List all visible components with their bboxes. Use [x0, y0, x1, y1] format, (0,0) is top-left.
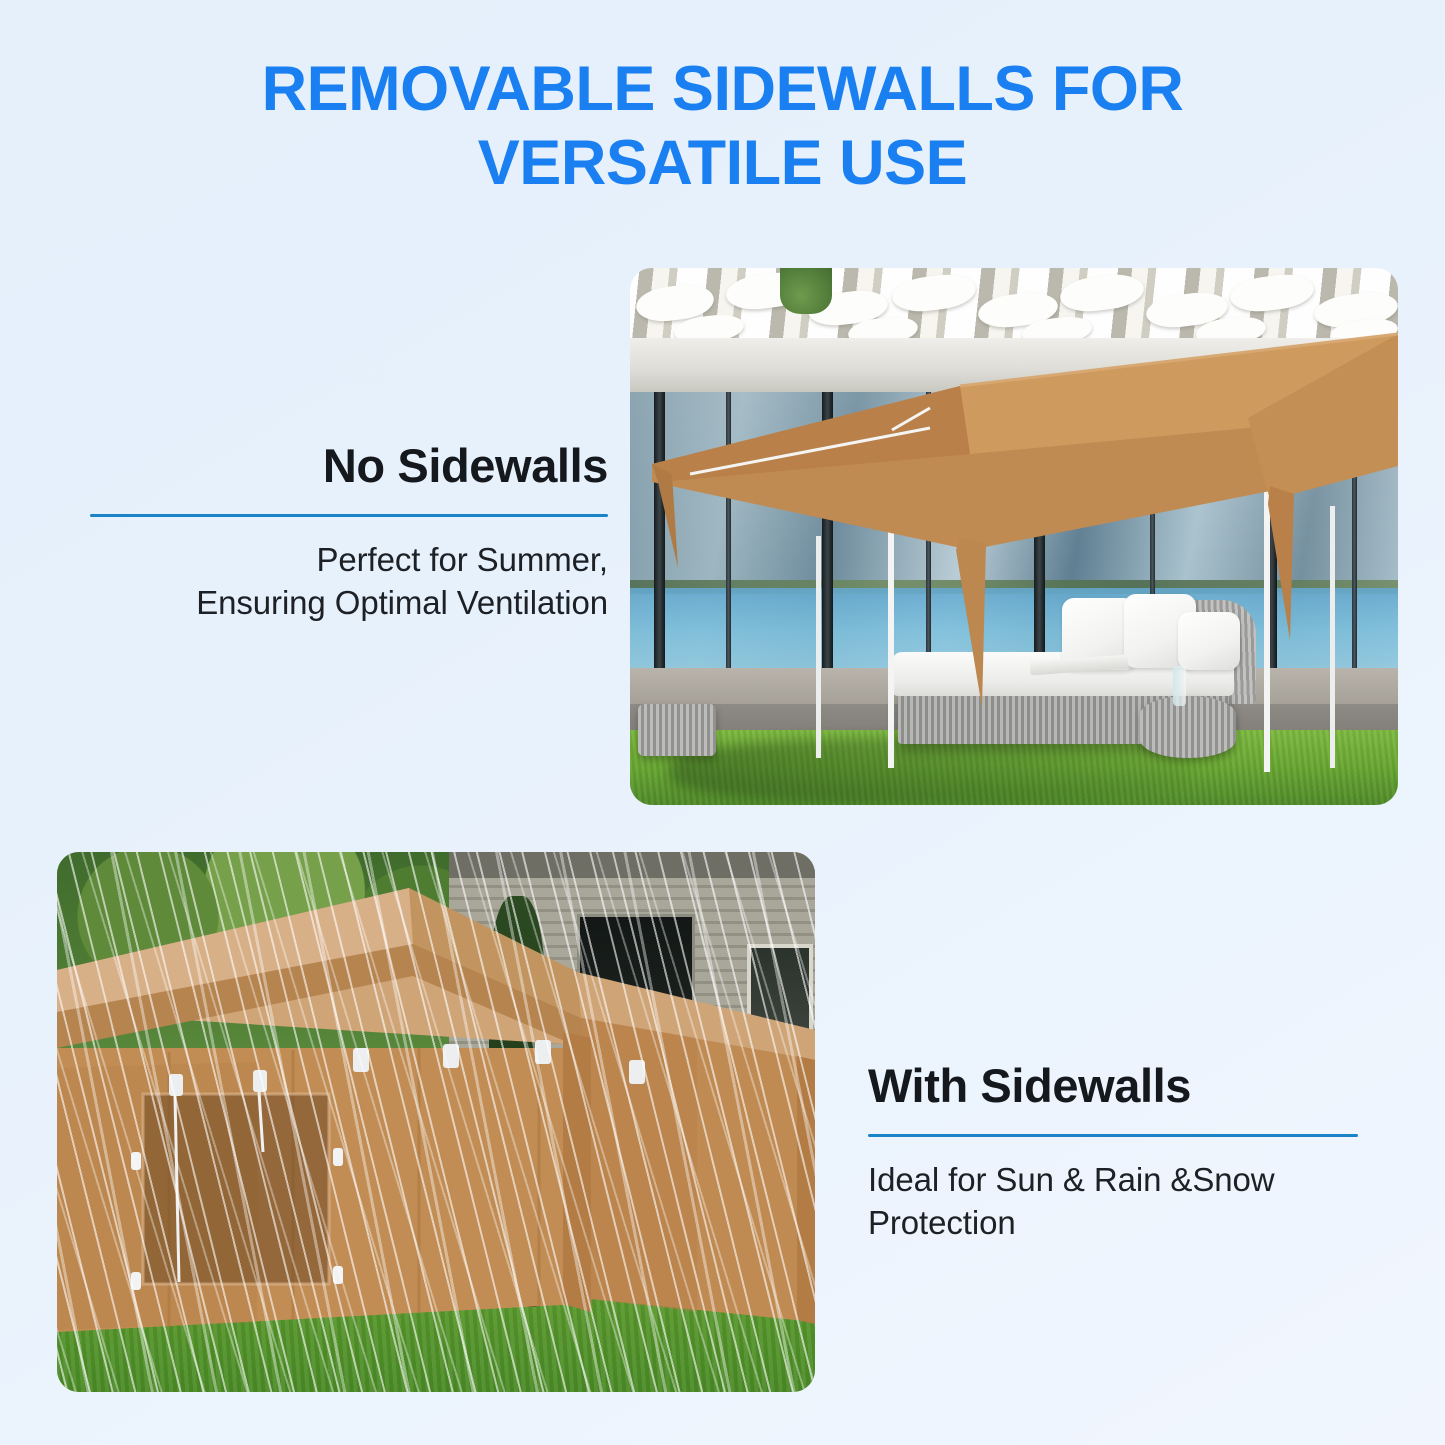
feature-description: Ideal for Sun & Rain &Snow Protection	[868, 1159, 1358, 1245]
feature-title: No Sidewalls	[90, 440, 608, 492]
canopy-no-sidewalls	[630, 268, 1398, 805]
photo-no-sidewalls	[630, 268, 1398, 805]
feature-description-line-1: Ideal for Sun & Rain &Snow	[868, 1159, 1358, 1202]
feature-divider	[90, 514, 608, 517]
feature-description-line-2: Ensuring Optimal Ventilation	[90, 582, 608, 625]
feature-no-sidewalls: No Sidewalls Perfect for Summer, Ensurin…	[90, 440, 608, 624]
feature-divider	[868, 1134, 1358, 1137]
photo-with-sidewalls	[57, 852, 815, 1392]
feature-description-line-1: Perfect for Summer,	[90, 539, 608, 582]
feature-description-line-2: Protection	[868, 1202, 1358, 1245]
feature-description: Perfect for Summer, Ensuring Optimal Ven…	[90, 539, 608, 625]
page-title-line-1: REMOVABLE SIDEWALLS FOR	[0, 52, 1445, 126]
feature-with-sidewalls: With Sidewalls Ideal for Sun & Rain &Sno…	[868, 1060, 1358, 1244]
carport-with-sidewalls	[57, 852, 815, 1392]
feature-title: With Sidewalls	[868, 1060, 1358, 1112]
page-title-line-2: VERSATILE USE	[0, 126, 1445, 200]
page-title: REMOVABLE SIDEWALLS FOR VERSATILE USE	[0, 52, 1445, 201]
